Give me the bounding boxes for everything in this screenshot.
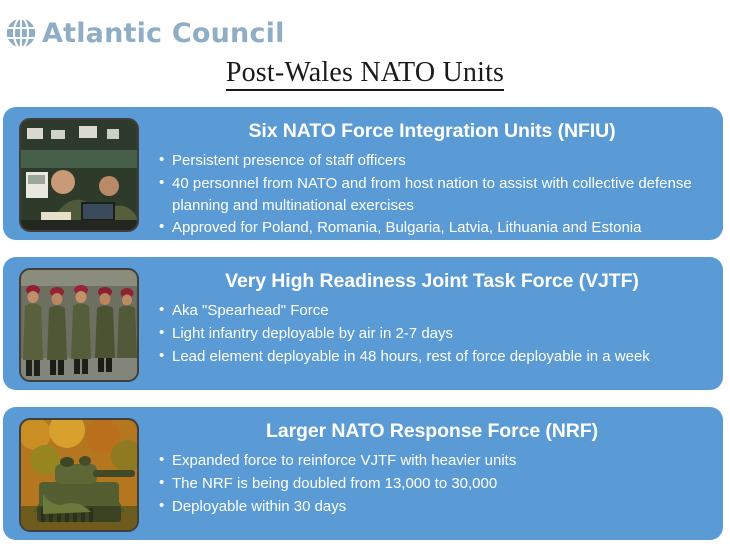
panel-heading: Very High Readiness Joint Task Force (VJ… [153, 270, 711, 293]
list-item: Approved for Poland, Romania, Bulgaria, … [159, 217, 711, 239]
panel-body: Six NATO Force Integration Units (NFIU) … [139, 115, 717, 240]
panel-nfiu: Six NATO Force Integration Units (NFIU) … [3, 107, 723, 240]
panel-nrf: Larger NATO Response Force (NRF) Expande… [3, 407, 723, 540]
bullet-list: Expanded force to reinforce VJTF with he… [153, 450, 711, 517]
list-item: Persistent presence of staff officers [159, 150, 711, 172]
list-item: Expanded force to reinforce VJTF with he… [159, 450, 711, 472]
panel-vjtf: Very High Readiness Joint Task Force (VJ… [3, 257, 723, 390]
list-item: Deployable within 30 days [159, 496, 711, 518]
camouflaged-battle-tank-autumn-photo [19, 418, 139, 532]
panel-heading: Larger NATO Response Force (NRF) [153, 420, 711, 443]
globe-icon [4, 16, 38, 50]
list-item: 40 personnel from NATO and from host nat… [159, 173, 711, 217]
brand-name: Atlantic Council [42, 20, 285, 47]
list-item: Lead element deployable in 48 hours, res… [159, 346, 711, 368]
list-item: Aka "Spearhead" Force [159, 300, 711, 322]
list-item: The NRF is being doubled from 13,000 to … [159, 473, 711, 495]
list-item: Light infantry deployable by air in 2-7 … [159, 323, 711, 345]
page-title: Post-Wales NATO Units [0, 57, 730, 89]
panel-heading: Six NATO Force Integration Units (NFIU) [153, 120, 711, 143]
brand-header: Atlantic Council [4, 12, 285, 54]
nato-staff-officers-operations-room-photo [19, 118, 139, 232]
soldiers-in-formation-red-berets-photo [19, 268, 139, 382]
bullet-list: Persistent presence of staff officers 40… [153, 150, 711, 239]
page-title-text: Post-Wales NATO Units [226, 57, 504, 91]
bullet-list: Aka "Spearhead" Force Light infantry dep… [153, 300, 711, 367]
panel-body: Larger NATO Response Force (NRF) Expande… [139, 415, 717, 518]
panel-list: Six NATO Force Integration Units (NFIU) … [3, 107, 723, 540]
panel-body: Very High Readiness Joint Task Force (VJ… [139, 265, 717, 368]
